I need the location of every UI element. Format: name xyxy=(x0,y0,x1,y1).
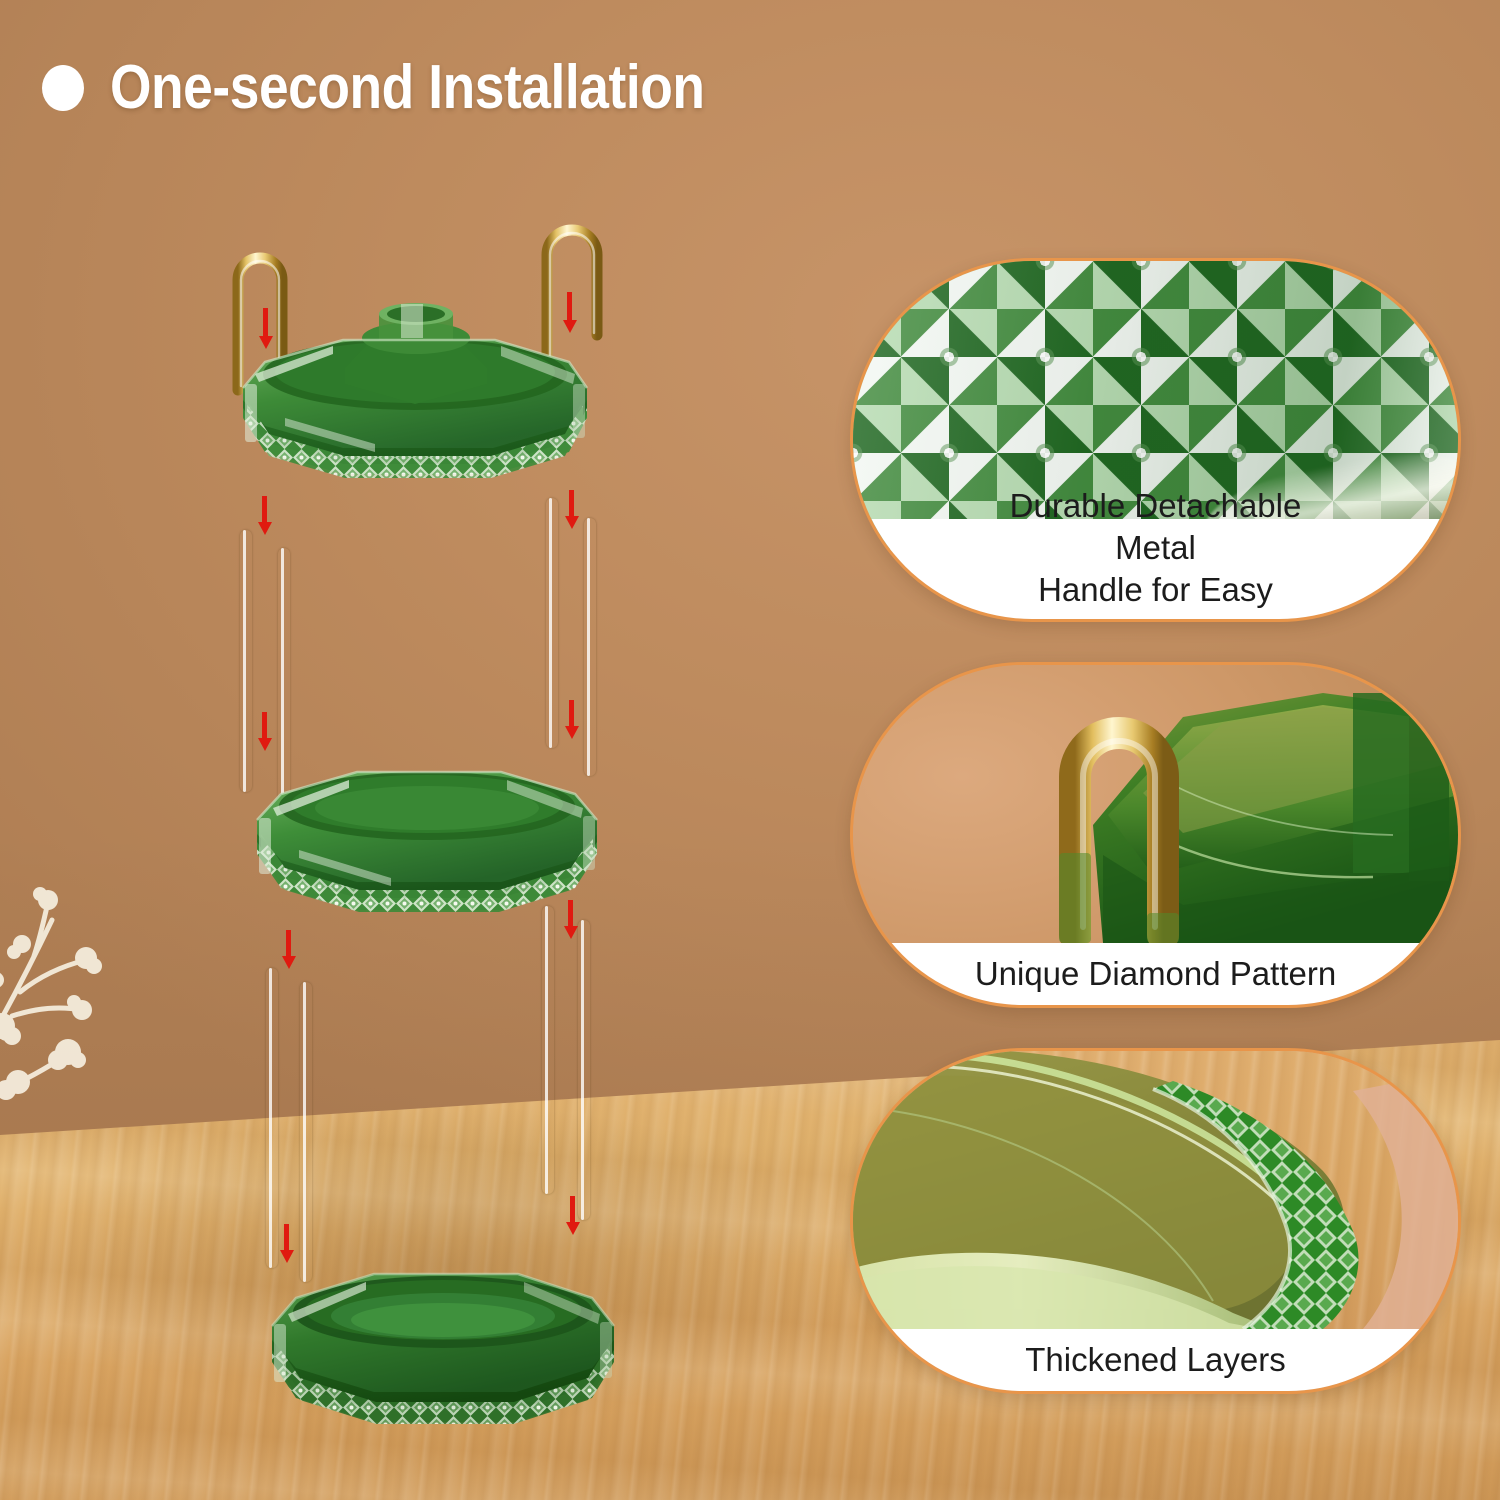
bullet-dot-icon xyxy=(42,65,84,111)
assembly-arrow-down-icon xyxy=(565,490,577,529)
caption-line: Handle for Easy Movement xyxy=(923,569,1388,622)
exploded-assembly-diagram xyxy=(0,0,780,1500)
gold-connector-rod xyxy=(584,518,596,776)
tray-thick-rim-closeup-photo xyxy=(853,1051,1458,1329)
gold-connector-rod xyxy=(546,498,558,748)
assembly-arrow-down-icon xyxy=(566,1196,578,1235)
page-title-row: One-second Installation xyxy=(42,52,801,123)
assembly-arrow-down-icon xyxy=(282,930,294,969)
infographic-canvas: Durable Detachable Metal Handle for Easy… xyxy=(0,0,1500,1500)
caption-line: Thickened Layers xyxy=(955,1339,1355,1381)
top-tray xyxy=(225,296,605,506)
gold-handle-on-tray-photo xyxy=(853,665,1458,943)
gold-connector-rod xyxy=(266,968,278,1268)
gold-connector-rod xyxy=(542,906,554,1194)
assembly-arrow-down-icon xyxy=(565,700,577,739)
callout-caption: Unique Diamond Pattern xyxy=(853,943,1458,1005)
callout-metal-handle: Durable Detachable Metal Handle for Easy… xyxy=(850,258,1461,622)
page-title: One-second Installation xyxy=(110,52,705,123)
callout-thickened-layers: Thickened Layers xyxy=(850,1048,1461,1394)
callout-caption: Thickened Layers xyxy=(853,1329,1458,1391)
caption-line: Unique Diamond Pattern xyxy=(905,953,1406,995)
assembly-arrow-down-icon xyxy=(258,496,270,535)
caption-line: Durable Detachable Metal xyxy=(923,485,1388,569)
assembly-arrow-down-icon xyxy=(564,900,576,939)
gold-connector-rod xyxy=(578,920,590,1220)
middle-tray xyxy=(243,742,611,932)
callout-caption: Durable Detachable Metal Handle for Easy… xyxy=(853,519,1458,619)
gold-connector-rod xyxy=(300,982,312,1282)
bottom-tray xyxy=(258,1246,628,1446)
callout-diamond-pattern: Unique Diamond Pattern xyxy=(850,662,1461,1008)
